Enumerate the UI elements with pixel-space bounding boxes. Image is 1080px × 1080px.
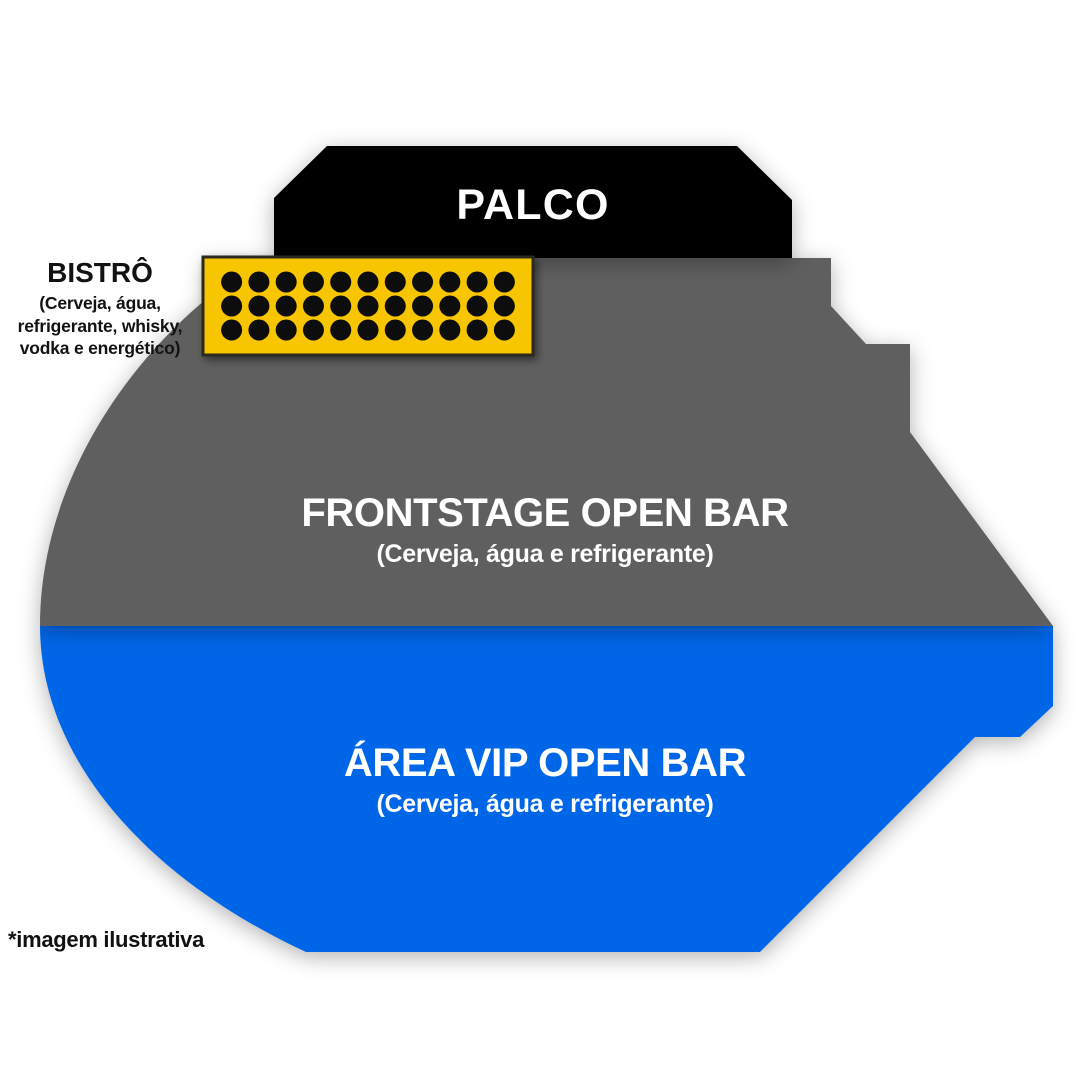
bistro-table-dot[interactable]	[467, 272, 488, 293]
frontstage-label-block: FRONTSTAGE OPEN BAR (Cerveja, água e ref…	[200, 492, 890, 568]
bistro-table-dot[interactable]	[221, 320, 242, 341]
bistro-table-dot[interactable]	[494, 296, 515, 317]
bistro-table-dot[interactable]	[439, 296, 460, 317]
bistro-table-dot[interactable]	[439, 272, 460, 293]
bistro-subtitle: (Cerveja, água, refrigerante, whisky, vo…	[2, 292, 198, 359]
illustrative-image-footnote: *imagem ilustrativa	[8, 928, 308, 952]
area-vip-title: ÁREA VIP OPEN BAR	[200, 742, 890, 785]
bistro-table-dot[interactable]	[221, 272, 242, 293]
area-vip-subtitle: (Cerveja, água e refrigerante)	[200, 791, 890, 818]
zone-bistro[interactable]	[203, 257, 533, 355]
bistro-table-dots	[221, 272, 515, 341]
bistro-table-dot[interactable]	[412, 320, 433, 341]
bistro-table-dot[interactable]	[276, 320, 297, 341]
bistro-table-dot[interactable]	[385, 320, 406, 341]
bistro-table-dot[interactable]	[276, 272, 297, 293]
bistro-table-dot[interactable]	[330, 272, 351, 293]
frontstage-subtitle: (Cerveja, água e refrigerante)	[200, 541, 890, 568]
bistro-table-dot[interactable]	[467, 320, 488, 341]
palco-label: PALCO	[274, 182, 792, 228]
bistro-table-dot[interactable]	[385, 296, 406, 317]
bistro-label-block: BISTRÔ (Cerveja, água, refrigerante, whi…	[2, 258, 198, 359]
area-vip-label-block: ÁREA VIP OPEN BAR (Cerveja, água e refri…	[200, 742, 890, 818]
bistro-table-dot[interactable]	[358, 320, 379, 341]
bistro-table-dot[interactable]	[276, 296, 297, 317]
bistro-table-dot[interactable]	[248, 320, 269, 341]
bistro-title: BISTRÔ	[2, 258, 198, 288]
bistro-table-dot[interactable]	[248, 296, 269, 317]
bistro-table-dot[interactable]	[303, 296, 324, 317]
bistro-table-dot[interactable]	[412, 296, 433, 317]
bistro-table-dot[interactable]	[358, 296, 379, 317]
bistro-table-dot[interactable]	[330, 296, 351, 317]
bistro-table-dot[interactable]	[303, 320, 324, 341]
bistro-table-dot[interactable]	[303, 272, 324, 293]
bistro-table-dot[interactable]	[248, 272, 269, 293]
bistro-table-dot[interactable]	[385, 272, 406, 293]
frontstage-title: FRONTSTAGE OPEN BAR	[200, 492, 890, 535]
bistro-table-dot[interactable]	[439, 320, 460, 341]
bistro-table-dot[interactable]	[494, 272, 515, 293]
venue-map-canvas: PALCO BISTRÔ (Cerveja, água, refrigerant…	[0, 0, 1080, 1080]
bistro-table-dot[interactable]	[494, 320, 515, 341]
bistro-table-dot[interactable]	[467, 296, 488, 317]
bistro-table-dot[interactable]	[221, 296, 242, 317]
bistro-table-dot[interactable]	[330, 320, 351, 341]
bistro-table-dot[interactable]	[358, 272, 379, 293]
bistro-table-dot[interactable]	[412, 272, 433, 293]
